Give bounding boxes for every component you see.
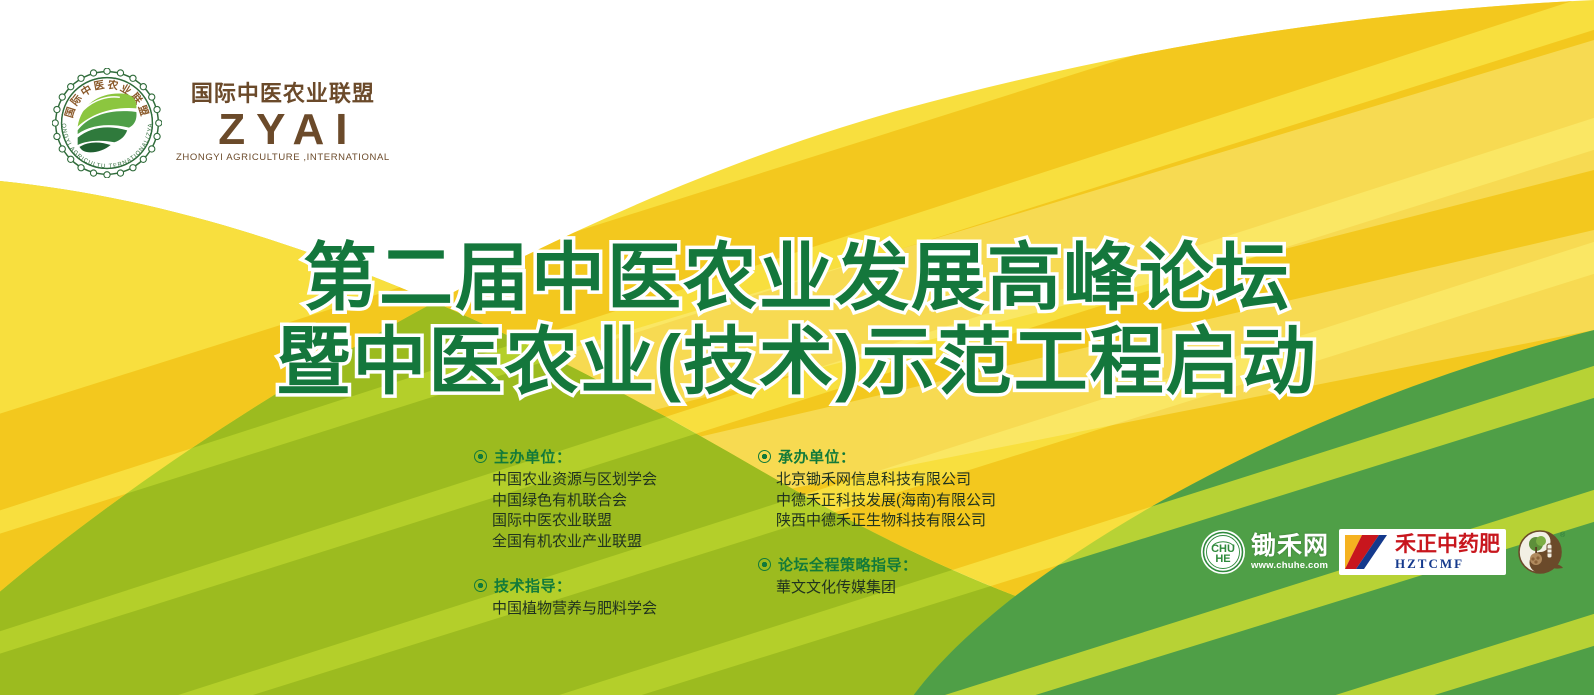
bullet-ring-icon: [758, 450, 771, 463]
credit-heading: 主办单位：: [494, 446, 572, 467]
chuhe-name-cn: 锄禾网: [1251, 534, 1329, 559]
credit-heading: 技术指导：: [494, 575, 572, 596]
chuhe-badge-icon: CHU HE: [1200, 529, 1246, 575]
credit-heading-row: 论坛全程策略指导：: [758, 554, 1024, 575]
credits-column-right: 承办单位： 北京锄禾网信息科技有限公司 中德禾正科技发展(海南)有限公司 陕西中…: [758, 446, 1024, 641]
credit-group-strategy-guidance: 论坛全程策略指导： 華文文化传媒集团: [758, 554, 1024, 599]
chuhe-url: www.chuhe.com: [1251, 561, 1329, 571]
conference-banner: 国际中医农业联盟 ZHONGYI AGRICULTURE INTERNATION…: [0, 0, 1594, 695]
zyai-emblem-icon: 国际中医农业联盟 ZHONGYI AGRICULTURE INTERNATION…: [52, 68, 162, 178]
credit-item: 陕西中德禾正生物科技有限公司: [776, 511, 1024, 532]
hztcmf-name-cn: 禾正中药肥: [1395, 534, 1500, 555]
bullet-ring-icon: [474, 450, 487, 463]
credit-group-organizers: 主办单位： 中国农业资源与区划学会 中国绿色有机联合会 国际中医农业联盟 全国有…: [474, 446, 740, 553]
credits-column-left: 主办单位： 中国农业资源与区划学会 中国绿色有机联合会 国际中医农业联盟 全国有…: [474, 446, 740, 641]
credit-heading-row: 承办单位：: [758, 446, 1024, 467]
credit-heading: 论坛全程策略指导：: [778, 554, 918, 575]
sponsor-tree-yinyang: ®: [1516, 528, 1566, 576]
credit-heading-row: 技术指导：: [474, 575, 740, 596]
alliance-acronym: ZYAI: [218, 108, 358, 152]
credit-item: 中德禾正科技发展(海南)有限公司: [776, 491, 1024, 512]
sponsor-logos: CHU HE 锄禾网 www.chuhe.com 禾正中药肥 HZTCMF: [1200, 528, 1566, 576]
hztcmf-z-mark-icon: [1342, 532, 1390, 572]
sponsor-chuhe: CHU HE 锄禾网 www.chuhe.com: [1200, 529, 1329, 575]
sponsor-hztcmf: 禾正中药肥 HZTCMF: [1339, 529, 1506, 575]
registered-trademark-mark: ®: [1560, 531, 1566, 539]
credit-item: 中国植物营养与肥料学会: [492, 599, 740, 620]
credit-item: 華文文化传媒集团: [776, 578, 1024, 599]
alliance-name-cn: 国际中医农业联盟: [191, 83, 375, 105]
alliance-logo-wordmark: 国际中医农业联盟 ZYAI ZHONGYI AGRICULTURE ,INTER…: [176, 83, 390, 163]
hztcmf-name-en: HZTCMF: [1395, 557, 1500, 570]
bullet-ring-icon: [758, 558, 771, 571]
credit-item: 中国绿色有机联合会: [492, 491, 740, 512]
tree-yinyang-emblem-icon: ®: [1516, 528, 1566, 576]
credit-item: 国际中医农业联盟: [492, 511, 740, 532]
credits-section: 主办单位： 中国农业资源与区划学会 中国绿色有机联合会 国际中医农业联盟 全国有…: [474, 446, 1024, 641]
credit-item: 北京锄禾网信息科技有限公司: [776, 470, 1024, 491]
credit-item: 中国农业资源与区划学会: [492, 470, 740, 491]
hztcmf-wordmark: 禾正中药肥 HZTCMF: [1395, 534, 1500, 570]
svg-text:HE: HE: [1215, 553, 1230, 565]
credit-item: 全国有机农业产业联盟: [492, 532, 740, 553]
alliance-logo: 国际中医农业联盟 ZHONGYI AGRICULTURE INTERNATION…: [52, 68, 390, 178]
credit-heading-row: 主办单位：: [474, 446, 740, 467]
credit-heading: 承办单位：: [778, 446, 856, 467]
credit-group-co-organizers: 承办单位： 北京锄禾网信息科技有限公司 中德禾正科技发展(海南)有限公司 陕西中…: [758, 446, 1024, 532]
alliance-name-en: ZHONGYI AGRICULTURE ,INTERNATIONAL: [176, 153, 390, 163]
emblem-leaf-field-motif: [76, 92, 138, 154]
bullet-ring-icon: [474, 579, 487, 592]
chuhe-wordmark: 锄禾网 www.chuhe.com: [1251, 534, 1329, 571]
credit-group-technical-guidance: 技术指导： 中国植物营养与肥料学会: [474, 575, 740, 620]
